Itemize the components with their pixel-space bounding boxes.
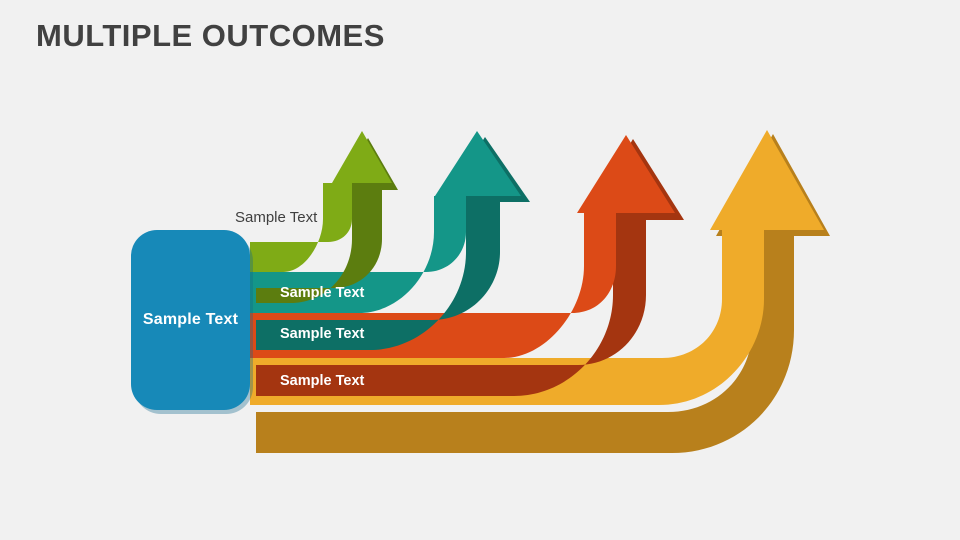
hub-label: Sample Text xyxy=(131,230,250,410)
arrow-orange-label: Sample Text xyxy=(280,326,364,342)
multiple-outcomes-diagram: Sample Text Sample Text Sample Text Samp… xyxy=(0,0,960,540)
arrow-yellow-label: Sample Text xyxy=(280,373,364,389)
arrow-green-label: Sample Text xyxy=(235,209,317,226)
arrow-yellow-body xyxy=(250,130,824,405)
arrow-teal-label: Sample Text xyxy=(280,285,364,301)
slide-canvas: MULTIPLE OUTCOMES xyxy=(0,0,960,540)
